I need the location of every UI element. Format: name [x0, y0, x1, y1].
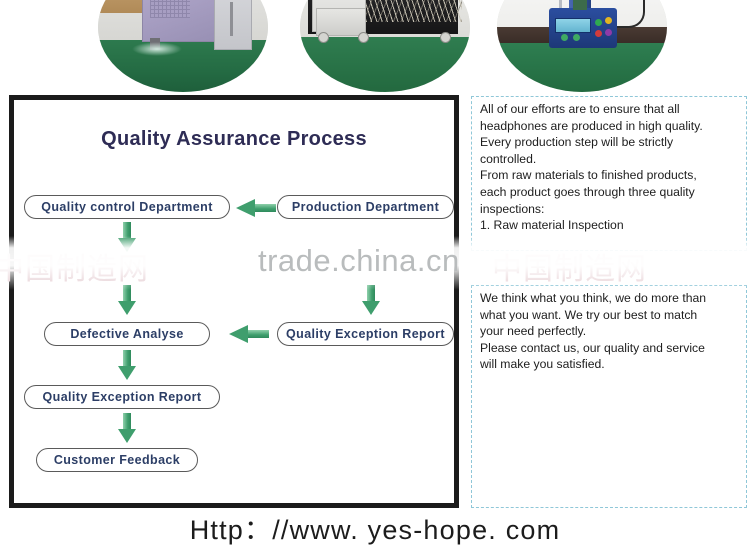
- tester-specimen-grip: [573, 0, 587, 10]
- photo-2-content: [300, 0, 470, 92]
- photo-strip: [0, 0, 750, 92]
- info-line: headphones are produced in high quality.: [480, 118, 740, 135]
- arrow-shaft: [367, 285, 375, 302]
- info-line: Every production step will be strictly: [480, 134, 740, 151]
- arrow-shaft: [123, 350, 131, 367]
- flowchart-title: Quality Assurance Process: [14, 128, 454, 151]
- bench-caster: [318, 32, 329, 43]
- arrow-head: [118, 301, 136, 315]
- node-quality-control-department[interactable]: Quality control Department: [24, 195, 230, 219]
- info-line: what you want. We try our best to match: [480, 307, 740, 324]
- arrow-head: [118, 429, 136, 443]
- photo-3-content: [497, 0, 667, 92]
- arrow-shaft: [123, 222, 131, 239]
- info-line: From raw materials to finished products,: [480, 167, 740, 184]
- photo-environmental-test-chamber: [98, 0, 268, 92]
- bench-caster: [440, 32, 451, 43]
- arrow-into-quality-exception-report-right: [362, 285, 380, 315]
- green-floor: [497, 43, 667, 92]
- info-panel-service-statement: We think what you think, we do more than…: [471, 285, 747, 508]
- info-line: inspections:: [480, 201, 740, 218]
- bench-caster: [358, 32, 369, 43]
- cardboard-boxes: [100, 0, 144, 13]
- green-floor: [300, 37, 470, 92]
- tester-lcd-display: [555, 18, 591, 33]
- arrow-shaft: [247, 330, 269, 338]
- quality-assurance-flowchart: Quality Assurance Process Quality contro…: [9, 95, 459, 508]
- arrow-head: [118, 238, 136, 252]
- info-line: We think what you think, we do more than: [480, 290, 740, 307]
- arrow-quality-exception-report-to-defective-analyse: [229, 325, 269, 343]
- arrow-head: [118, 366, 136, 380]
- wire-bundle: [366, 0, 462, 22]
- arrow-shaft: [123, 413, 131, 430]
- website-url: Http：//www. yes-hope. com: [0, 508, 750, 547]
- arrow-shaft: [123, 285, 131, 302]
- info-panel-quality-inspection: All of our efforts are to ensure that al…: [471, 96, 747, 251]
- tester-stop-button: [595, 30, 602, 37]
- tester-mode-button: [605, 17, 612, 24]
- arrow-shaft: [254, 204, 276, 212]
- arrow-production-to-quality-control: [236, 199, 276, 217]
- floor-reflection: [132, 42, 182, 56]
- info-line: each product goes through three quality: [480, 184, 740, 201]
- tester-aux-button: [561, 34, 568, 41]
- arrow-head: [362, 301, 380, 315]
- info-line: will make you satisfied.: [480, 356, 740, 373]
- tester-start-button: [595, 19, 602, 26]
- node-quality-exception-report-left[interactable]: Quality Exception Report: [24, 385, 220, 409]
- chamber-vent-grille: [150, 0, 190, 18]
- photo-tensile-strength-tester: [497, 0, 667, 92]
- node-quality-exception-report-right[interactable]: Quality Exception Report: [277, 322, 454, 346]
- info-line: Please contact us, our quality and servi…: [480, 340, 740, 357]
- arrow-quality-control-to-defective-analyse-lower: [118, 285, 136, 315]
- info-line: controlled.: [480, 151, 740, 168]
- arrow-quality-control-to-defective-analyse: [118, 222, 136, 256]
- tester-reset-button: [605, 29, 612, 36]
- node-defective-analyse[interactable]: Defective Analyse: [44, 322, 210, 346]
- arrow-head: [236, 199, 255, 217]
- info-line: 1. Raw material Inspection: [480, 217, 740, 234]
- photo-1-content: [98, 0, 268, 92]
- arrow-head: [229, 325, 248, 343]
- chamber-handle-slot: [230, 2, 233, 36]
- photo-aging-test-bench: [300, 0, 470, 92]
- info-line: your need perfectly.: [480, 323, 740, 340]
- info-line: All of our efforts are to ensure that al…: [480, 101, 740, 118]
- chamber-control-panel: [214, 0, 252, 50]
- tester-aux-button: [573, 34, 580, 41]
- arrow-defective-analyse-to-report: [118, 350, 136, 380]
- node-production-department[interactable]: Production Department: [277, 195, 454, 219]
- arrow-report-to-customer-feedback: [118, 413, 136, 443]
- node-customer-feedback[interactable]: Customer Feedback: [36, 448, 198, 472]
